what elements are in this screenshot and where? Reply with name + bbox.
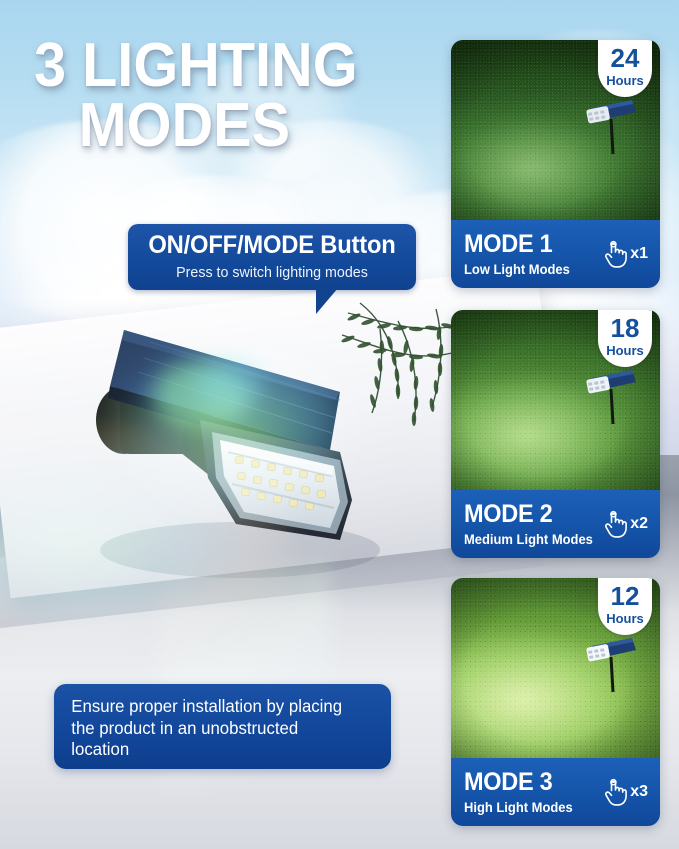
mode-description: High Light Modes — [464, 795, 573, 815]
callout-subtitle: Press to switch lighting modes — [135, 258, 409, 280]
badge-number: 24 — [598, 40, 652, 71]
tap-hand-icon — [602, 777, 628, 807]
title-line-2: MODES — [79, 96, 406, 156]
mode-3-footer: MODE 3 High Light Modes — [451, 758, 660, 826]
mode-description: Medium Light Modes — [464, 527, 593, 547]
mode-label: MODE 1 — [464, 232, 568, 257]
tap-count: x2 — [630, 516, 648, 532]
mode-card-2[interactable]: 18 Hours MODE 2 Medium Light Modes — [451, 310, 660, 558]
mode-2-footer: MODE 2 Medium Light Modes — [451, 490, 660, 558]
installation-note-box: Ensure proper installation by placing th… — [54, 684, 391, 769]
badge-unit: Hours — [598, 341, 652, 357]
mode-2-labels: MODE 2 Medium Light Modes — [464, 502, 598, 547]
page-title: 3 LIGHTING MODES — [34, 36, 406, 155]
badge-unit: Hours — [598, 71, 652, 87]
mode-1-tap-group: x1 — [602, 239, 648, 269]
badge-number: 18 — [598, 310, 652, 341]
callout-pointer — [316, 288, 338, 314]
badge-number: 12 — [598, 578, 652, 609]
mode-1-labels: MODE 1 Low Light Modes — [464, 232, 574, 277]
mode-2-tap-group: x2 — [602, 509, 648, 539]
tap-count: x3 — [630, 784, 648, 800]
product-infographic: 3 LIGHTING MODES ON/OFF/MODE Button Pres… — [0, 0, 679, 849]
mode-card-1[interactable]: 24 Hours MODE 1 Low Light Modes — [451, 40, 660, 288]
mode-card-3[interactable]: 12 Hours MODE 3 High Light Modes — [451, 578, 660, 826]
solar-wall-light-product — [40, 300, 440, 620]
mini-lamp-icon — [580, 362, 642, 432]
mode-3-labels: MODE 3 High Light Modes — [464, 770, 577, 815]
tap-hand-icon — [602, 509, 628, 539]
mode-3-tap-group: x3 — [602, 777, 648, 807]
title-line-1: 3 LIGHTING — [34, 36, 406, 96]
mode-1-footer: MODE 1 Low Light Modes — [451, 220, 660, 288]
installation-note-text: Ensure proper installation by placing th… — [54, 684, 378, 761]
tap-hand-icon — [602, 239, 628, 269]
duration-badge-3: 12 Hours — [598, 578, 652, 635]
onoff-mode-callout: ON/OFF/MODE Button Press to switch light… — [128, 224, 416, 290]
mode-description: Low Light Modes — [464, 257, 570, 277]
callout-title: ON/OFF/MODE Button — [135, 224, 409, 258]
mode-label: MODE 2 — [464, 502, 590, 527]
tap-count: x1 — [630, 246, 648, 262]
mini-lamp-icon — [580, 630, 642, 700]
mode-label: MODE 3 — [464, 770, 570, 795]
duration-badge-1: 24 Hours — [598, 40, 652, 97]
badge-unit: Hours — [598, 609, 652, 625]
mini-lamp-icon — [580, 92, 642, 162]
duration-badge-2: 18 Hours — [598, 310, 652, 367]
